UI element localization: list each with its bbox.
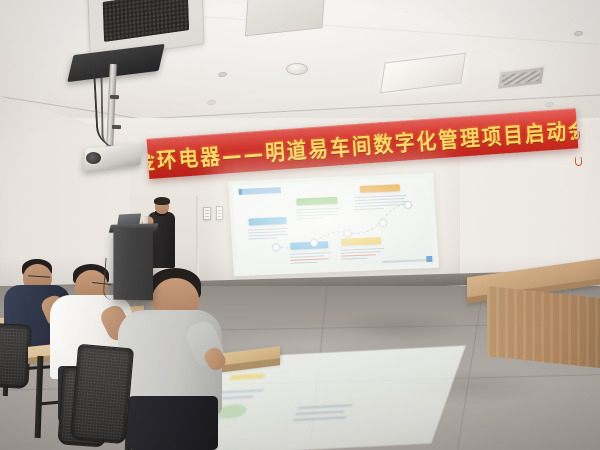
spill-slide-line	[216, 389, 264, 393]
vent-grille	[103, 0, 190, 42]
spill-slide-line	[293, 416, 347, 421]
slide-box-1-body	[248, 226, 289, 240]
spill-slide-line	[295, 411, 345, 416]
banner-hook-icon	[575, 157, 583, 166]
projector-cable	[100, 70, 115, 148]
projection-screen	[228, 173, 439, 276]
spill-slide-box	[229, 373, 265, 380]
chair-back	[70, 344, 134, 445]
attendee-3-legs	[128, 396, 218, 450]
wall-notice-sign	[203, 207, 211, 220]
side-table-panel	[487, 286, 600, 368]
smoke-detector-icon	[286, 63, 308, 75]
presenter-hair	[154, 197, 170, 205]
wood-grain	[487, 286, 600, 368]
chair-back	[0, 323, 32, 389]
meeting-room-scene: 金环电器——明道易车间数字化管理项目启动会	[0, 0, 600, 450]
slide-box-3-body	[354, 193, 407, 210]
slide-box-4-body	[290, 250, 332, 264]
presentation-slide	[232, 177, 434, 272]
slide-logo-mark	[426, 256, 432, 262]
banner-hook-icon	[573, 131, 581, 140]
wall-notice-sign	[216, 206, 223, 220]
door-frame	[196, 196, 199, 288]
slide-box-2-body	[296, 206, 341, 220]
podium	[113, 228, 153, 301]
projector-lens-icon	[86, 152, 101, 164]
slide-box-5-body	[340, 246, 385, 260]
spill-slide-line	[297, 404, 353, 409]
banner-hook-icon	[150, 152, 158, 161]
